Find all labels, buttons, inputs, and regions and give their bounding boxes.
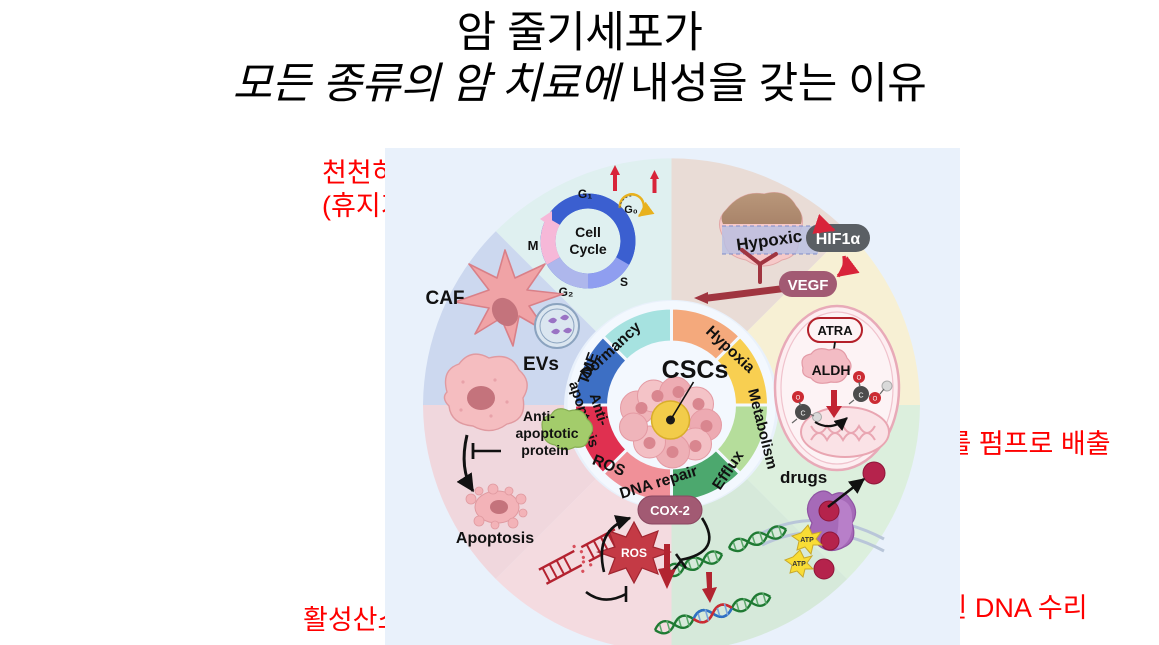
cellcycle-phase-g2: G₂ — [559, 285, 574, 299]
aldh-enzyme: ALDH — [802, 349, 851, 384]
svg-text:O: O — [796, 396, 801, 402]
svg-text:Cell: Cell — [575, 224, 601, 240]
apoptosis-label: Apoptosis — [456, 530, 534, 547]
svg-text:O: O — [857, 376, 862, 382]
title-line-1: 암 줄기세포가 — [0, 8, 1159, 59]
title-line-2: 모든 종류의 암 치료에 내성을 갖는 이유 — [0, 59, 1159, 110]
caf-label: CAF — [425, 288, 464, 309]
svg-text:Anti-: Anti- — [523, 408, 555, 424]
cellcycle-phase-g0: G₀ — [624, 204, 638, 216]
drug-sphere — [819, 501, 839, 521]
title-line-2-italic: 모든 종류의 암 치료에 — [233, 60, 619, 108]
svg-text:apoptotic: apoptotic — [516, 425, 579, 441]
drug-sphere — [814, 559, 834, 579]
atp-label: ATP — [800, 537, 814, 544]
cellcycle-phase-g1: G₁ — [578, 187, 592, 201]
svg-text:C: C — [858, 393, 863, 400]
panel-metabolism: ATRA ALDH C O — [775, 306, 899, 470]
vegf-label: VEGF — [788, 277, 829, 294]
efflux-cargo-label: drugs — [780, 468, 827, 487]
svg-text:O: O — [873, 397, 878, 403]
atp-label: ATP — [792, 561, 806, 568]
title-line-2-rest: 내성을 갖는 이유 — [619, 60, 927, 108]
evs-label: EVs — [523, 354, 559, 375]
cancer-stem-cell-wheel-figure: Dormancy Hypoxia Metabolism Efflux DNA r… — [385, 148, 960, 645]
cox2-label: COX-2 — [650, 503, 690, 518]
svg-text:C: C — [800, 411, 805, 418]
center-label-cscs: CSCs — [662, 356, 729, 384]
slide-canvas: 암 줄기세포가 모든 종류의 암 치료에 내성을 갖는 이유 천천히 증식 (휴… — [0, 0, 1159, 645]
vegf-pill: VEGF — [779, 271, 837, 297]
atra-label: ATRA — [817, 323, 853, 338]
svg-text:protein: protein — [521, 442, 568, 458]
svg-text:Cycle: Cycle — [569, 241, 607, 257]
atra-pill: ATRA — [808, 318, 862, 342]
hif1a-pill: HIF1α — [806, 224, 870, 252]
drug-sphere — [821, 532, 839, 550]
cellcycle-phase-m: M — [528, 238, 539, 253]
drug-sphere — [863, 462, 885, 484]
ros-label: ROS — [621, 546, 647, 560]
viable-cell — [444, 354, 527, 430]
cellcycle-phase-s: S — [620, 275, 628, 289]
hif1a-label: HIF1α — [816, 231, 861, 248]
page-title: 암 줄기세포가 모든 종류의 암 치료에 내성을 갖는 이유 — [0, 8, 1159, 109]
aldh-label: ALDH — [812, 362, 851, 378]
ev-vesicle — [535, 304, 579, 348]
hypoxic-band: Hypoxic — [722, 226, 818, 255]
cox2-pill: COX-2 — [638, 496, 702, 524]
